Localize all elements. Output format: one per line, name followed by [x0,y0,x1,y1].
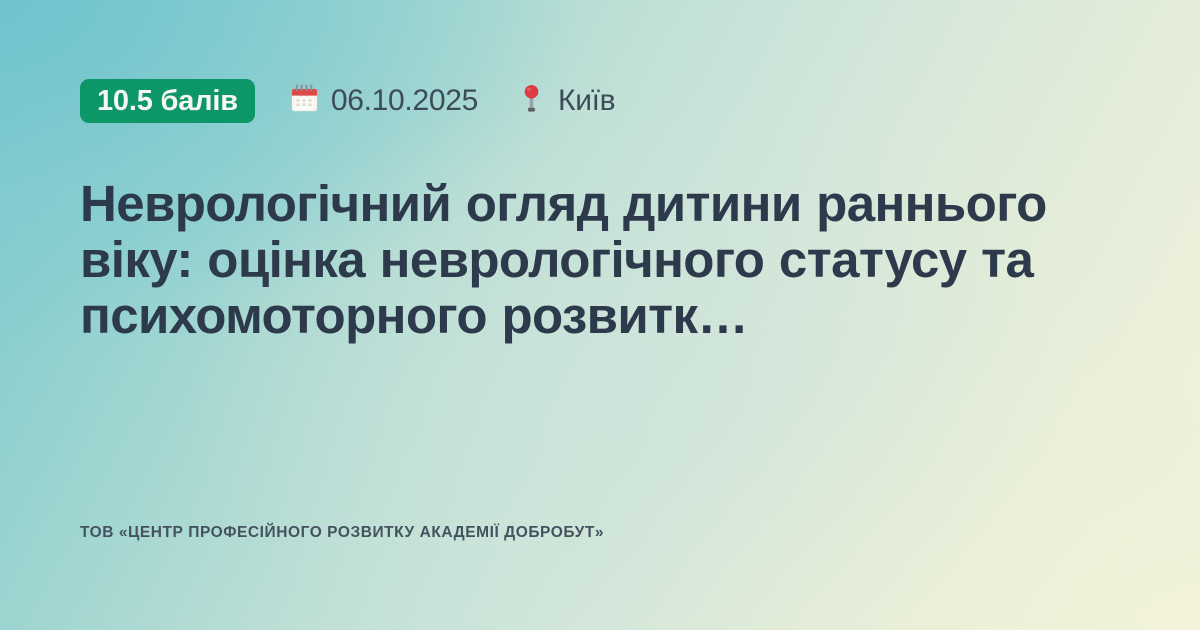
score-badge: 10.5 балів [80,79,255,123]
event-card: 10.5 балів [0,0,1200,630]
card-content: 10.5 балів [0,0,1200,630]
location-pin-icon [516,83,547,119]
meta-row: 10.5 балів [80,76,615,126]
calendar-icon [289,83,320,119]
event-date-text: 06.10.2025 [331,86,478,116]
event-location-text: Київ [558,86,615,116]
event-date: 06.10.2025 [289,83,478,119]
organizer-name: ТОВ «ЦЕНТР ПРОФЕСІЙНОГО РОЗВИТКУ АКАДЕМІ… [80,524,604,543]
page-title: Неврологічний огляд дитини раннього віку… [80,176,1125,344]
event-location: Київ [516,83,615,119]
